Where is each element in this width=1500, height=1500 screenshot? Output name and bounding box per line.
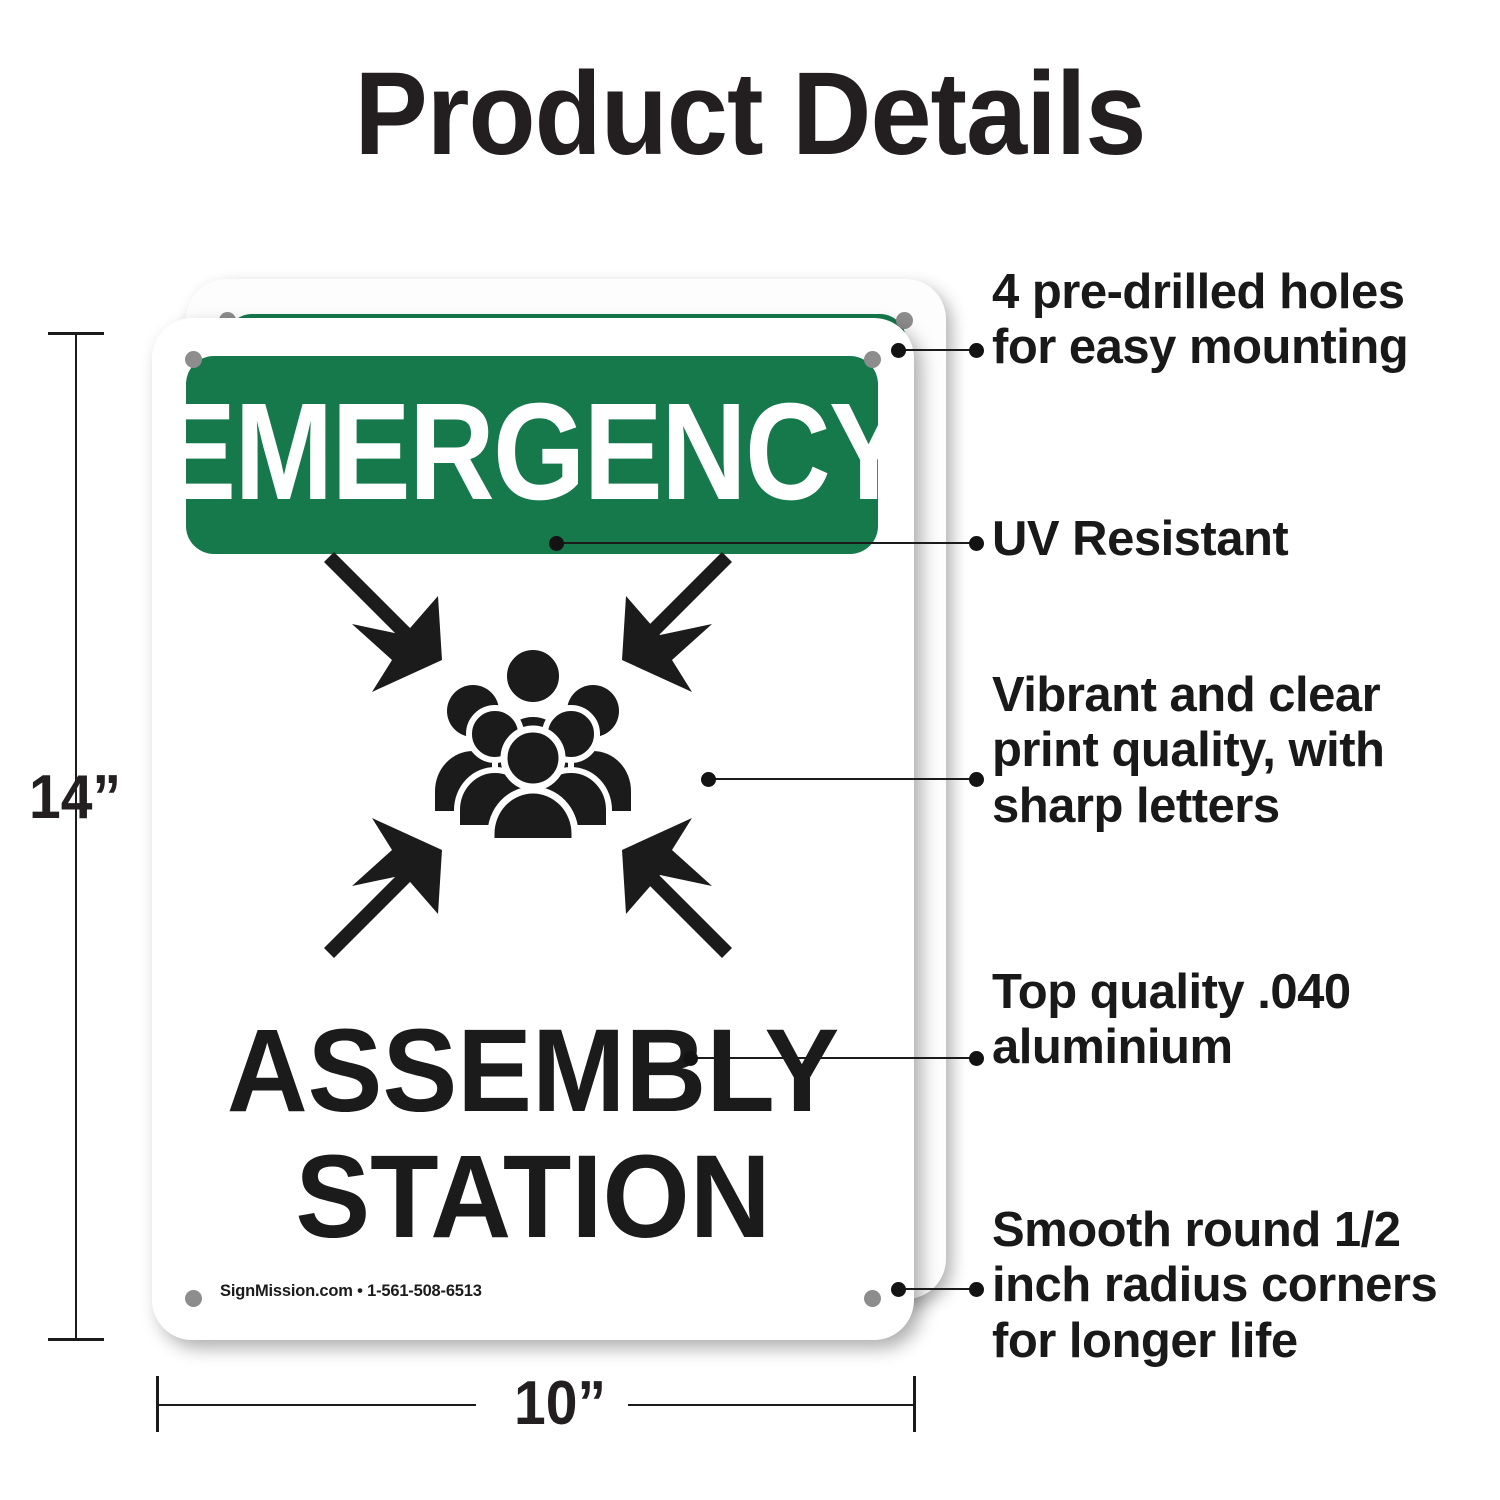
mounting-hole [185,1290,202,1307]
leader-dot-target-holes [969,343,984,358]
callout-print-quality: Vibrant and clear print quality, with sh… [992,668,1462,834]
emergency-banner: EMERGENCY [186,356,878,554]
leader-line-pre-drilled-holes [898,349,976,351]
sign-body-line-2: STATION [171,1138,895,1256]
width-dimension-cap-right [913,1376,916,1432]
width-dimension-line-left [156,1404,476,1406]
callout-pre-drilled-holes: 4 pre-drilled holes for easy mounting [992,265,1462,376]
sign-front-panel: EMERGENCY [152,318,914,1340]
height-dimension-label: 14” [15,762,135,833]
callout-uv-resistant: UV Resistant [992,512,1462,567]
page-title: Product Details [53,46,1448,182]
height-dimension-line [75,332,77,1340]
height-dimension-cap-bottom [48,1338,104,1341]
mounting-hole [864,351,881,368]
mounting-hole [185,351,202,368]
product-details-infographic: Product Details EMERGENCY [0,0,1500,1500]
sign-footer-contact: SignMission.com • 1-561-508-6513 [220,1281,482,1301]
leader-line-uv-resistant [556,542,976,544]
leader-dot-source-uv [549,536,564,551]
leader-dot-source-holes [891,343,906,358]
height-dimension-cap-top [48,332,104,335]
width-dimension-label: 10” [477,1368,643,1439]
leader-line-round-corners [898,1288,976,1290]
leader-dot-target-aluminium [969,1051,984,1066]
sign-body-line-1: ASSEMBLY [171,1012,895,1130]
leader-line-aluminium [690,1057,976,1059]
callout-round-corners: Smooth round 1/2 inch radius corners for… [992,1203,1462,1369]
callout-aluminium: Top quality .040 aluminium [992,965,1462,1076]
group-of-people-icon [433,648,633,838]
leader-dot-source-print [701,772,716,787]
emergency-banner-label: EMERGENCY [157,383,906,521]
leader-dot-target-uv [969,536,984,551]
leader-dot-source-corners [891,1282,906,1297]
width-dimension-cap-left [156,1376,159,1432]
leader-dot-target-corners [969,1282,984,1297]
leader-line-print-quality [708,778,976,780]
leader-dot-target-print [969,772,984,787]
width-dimension-line-right [628,1404,916,1406]
mounting-hole [864,1290,881,1307]
leader-dot-source-aluminium [683,1051,698,1066]
